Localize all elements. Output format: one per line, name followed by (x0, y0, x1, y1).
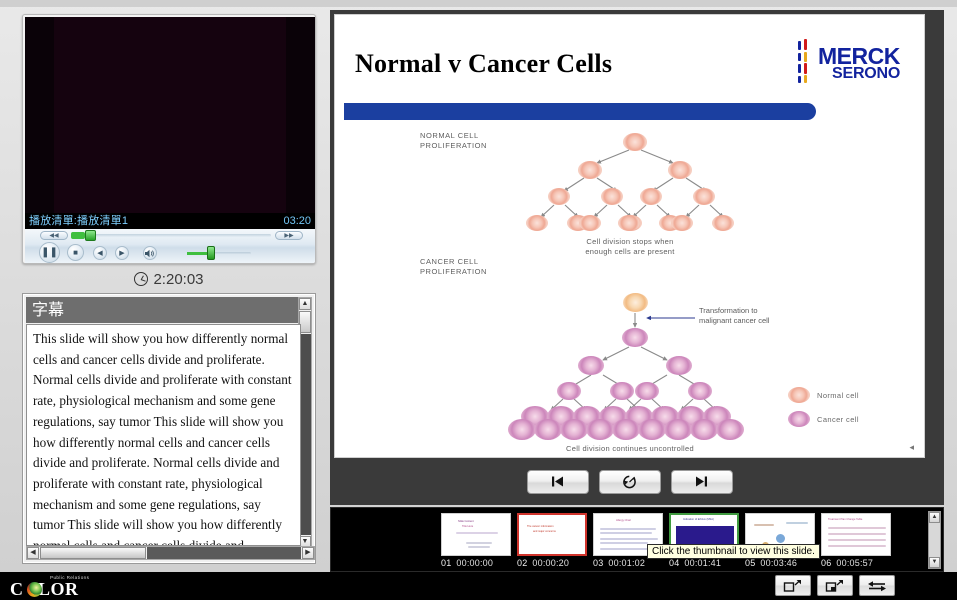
slide-corner-marker: ◂ (909, 442, 914, 453)
seek-handle[interactable] (85, 230, 96, 241)
window-controls (775, 575, 895, 596)
fast-forward-icon[interactable]: ▶▶ (275, 231, 303, 240)
cell-cancer (557, 382, 581, 400)
legend-swatch-cancer (788, 411, 810, 427)
subtitle-panel: 字幕 ▲ ▼ This slide will show you how diff… (22, 293, 316, 564)
cell-normal (526, 215, 548, 231)
skip-next-icon: ▶ (119, 249, 124, 257)
cell-cancer (586, 419, 614, 440)
thumbnail-scrollbar[interactable]: ▲ ▼ (928, 511, 941, 569)
popout-window-button[interactable] (775, 575, 811, 596)
popout-filled-icon (825, 579, 845, 593)
stop-button[interactable]: ■ (67, 244, 84, 261)
cell-normal (693, 188, 715, 205)
thumbnail-06[interactable]: Treatment Plan Change Table (821, 513, 891, 556)
legend-swatch-normal (788, 387, 810, 403)
logo-orb-icon (27, 582, 42, 597)
cell-transforming (623, 293, 648, 312)
legend-label: Cancer cell (817, 415, 859, 424)
scroll-down-icon[interactable]: ▼ (929, 557, 940, 568)
scroll-up-icon[interactable]: ▲ (929, 512, 940, 523)
media-player-app: 播放清單:播放清單1 03:20 ◀◀ ▶▶ ❚❚ ■ (0, 0, 957, 600)
cell-cancer (666, 356, 692, 375)
slide-canvas[interactable]: Normal v Cancer Cells MERCK SERONO (334, 14, 925, 458)
video-player[interactable]: 播放清單:播放清單1 03:20 ◀◀ ▶▶ ❚❚ ■ (22, 14, 316, 264)
cell-normal (671, 215, 693, 231)
cell-cancer (635, 382, 659, 400)
video-frame (54, 17, 286, 213)
replay-slide-button[interactable] (599, 470, 661, 494)
volume-handle[interactable] (207, 246, 215, 260)
legend-item: Normal cell (788, 387, 916, 403)
cell-normal (548, 188, 570, 205)
swap-layout-button[interactable] (859, 575, 895, 596)
diagram-legend: Normal cell Cancer cell (788, 387, 916, 435)
cell-normal (623, 133, 647, 151)
normal-caption: Cell division stops when enough cells ar… (550, 237, 710, 257)
slide-panel: Normal v Cancer Cells MERCK SERONO (330, 10, 944, 505)
cancer-label: CANCER CELL PROLIFERATION (420, 257, 487, 277)
next-slide-button[interactable] (671, 470, 733, 494)
logo-letter-c: C (10, 579, 24, 599)
cell-cancer (560, 419, 588, 440)
cell-normal (640, 188, 662, 205)
session-clock: 2:20:03 (22, 268, 316, 290)
thumbnail-01[interactable]: Slide Content Title Here (441, 513, 511, 556)
merck-serono-logo: MERCK SERONO (798, 37, 910, 85)
cell-cancer (610, 382, 634, 400)
mute-button[interactable] (143, 246, 157, 260)
cell-normal (578, 161, 602, 179)
cell-cancer (690, 419, 718, 440)
legend-label: Normal cell (817, 391, 859, 400)
cell-proliferation-diagram: NORMAL CELL PROLIFERATION C (335, 125, 925, 455)
slide-navigation (334, 462, 925, 501)
popout-icon (783, 579, 803, 593)
thumbnail-strip: Slide Content Title Here The cancer info… (330, 507, 944, 572)
legend-item: Cancer cell (788, 411, 916, 427)
pause-icon: ❚❚ (41, 247, 58, 258)
hscrollbar-thumb[interactable] (40, 547, 146, 559)
cell-cancer (622, 328, 648, 347)
subtitle-panel-title: 字幕 (26, 297, 301, 323)
thumbnail-time-01: 0100:00:00 (441, 558, 517, 568)
cell-cancer (612, 419, 640, 440)
cell-cancer (534, 419, 562, 440)
subtitle-text[interactable]: This slide will show you how differently… (26, 324, 301, 546)
playlist-label: 播放清單:播放清單1 (29, 213, 128, 229)
playlist-elapsed: 03:20 (283, 213, 311, 229)
scroll-right-icon[interactable]: ▶ (302, 547, 314, 559)
transformation-note: Transformation to malignant cancer cell (699, 306, 769, 326)
previous-track-button[interactable]: ◀ (93, 246, 107, 260)
video-screen[interactable] (25, 17, 315, 213)
popout-filled-button[interactable] (817, 575, 853, 596)
logo-bars (798, 39, 816, 83)
player-status-bar: 播放清單:播放清單1 03:20 (25, 213, 315, 229)
cell-cancer (508, 419, 536, 440)
cell-normal (668, 161, 692, 179)
rewind-icon[interactable]: ◀◀ (40, 231, 68, 240)
clock-icon (134, 272, 148, 286)
thumbnail-time-05: 0500:03:46 (745, 558, 821, 568)
cell-cancer (716, 419, 744, 440)
seek-progress-fill (71, 232, 85, 239)
left-column: 播放清單:播放清單1 03:20 ◀◀ ▶▶ ❚❚ ■ (0, 0, 330, 570)
cell-normal (712, 215, 734, 231)
subtitle-horizontal-scrollbar[interactable]: ◀ ▶ (26, 546, 315, 560)
next-track-button[interactable]: ▶ (115, 246, 129, 260)
slide-title-bar (344, 103, 816, 120)
previous-slide-button[interactable] (527, 470, 589, 494)
thumbnail-tooltip: Click the thumbnail to view this slide. (647, 544, 820, 559)
logo-wordmark: COLOR (10, 579, 79, 600)
logo-serono-text: SERONO (832, 65, 900, 83)
skip-previous-icon (550, 475, 565, 488)
seek-row: ◀◀ ▶▶ (25, 229, 315, 242)
slide-title: Normal v Cancer Cells (355, 49, 612, 79)
logo-letters-lor: LOR (38, 579, 79, 599)
cell-cancer (578, 356, 604, 375)
color-logo: Public Relations COLOR (8, 575, 128, 597)
cell-cancer (664, 419, 692, 440)
hscrollbar-track[interactable] (147, 547, 301, 559)
thumbnail-time-03: 0300:01:02 (593, 558, 669, 568)
thumbnail-time-04: 0400:01:41 (669, 558, 745, 568)
bottom-bar: Public Relations COLOR (0, 572, 957, 600)
scroll-up-icon[interactable]: ▲ (299, 298, 311, 310)
clock-time: 2:20:03 (153, 271, 203, 288)
seek-track[interactable] (71, 234, 271, 237)
player-controls: ◀◀ ▶▶ ❚❚ ■ ◀ ▶ (25, 229, 315, 263)
pause-button[interactable]: ❚❚ (39, 242, 60, 263)
scroll-left-icon[interactable]: ◀ (27, 547, 39, 559)
replay-icon (621, 474, 638, 490)
cell-normal (601, 188, 623, 205)
skip-next-icon (694, 475, 709, 488)
stop-icon: ■ (73, 248, 78, 257)
thumbnail-time-06: 0600:05:57 (821, 558, 897, 568)
cancer-caption: Cell division continues uncontrolled (530, 444, 730, 454)
skip-previous-icon: ◀ (97, 249, 102, 257)
normal-label: NORMAL CELL PROLIFERATION (420, 131, 487, 151)
cell-cancer (688, 382, 712, 400)
thumbnail-02[interactable]: The cancer information and major concern… (517, 513, 587, 556)
swap-arrows-icon (866, 579, 888, 593)
cell-normal (618, 215, 640, 231)
transport-buttons: ❚❚ ■ ◀ ▶ (25, 242, 315, 263)
cell-normal (579, 215, 601, 231)
thumbnail-timestamps: 0100:00:00 0200:00:20 0300:01:02 0400:01… (441, 558, 897, 568)
speaker-icon (145, 249, 155, 258)
thumbnail-time-02: 0200:00:20 (517, 558, 593, 568)
cell-cancer (638, 419, 666, 440)
